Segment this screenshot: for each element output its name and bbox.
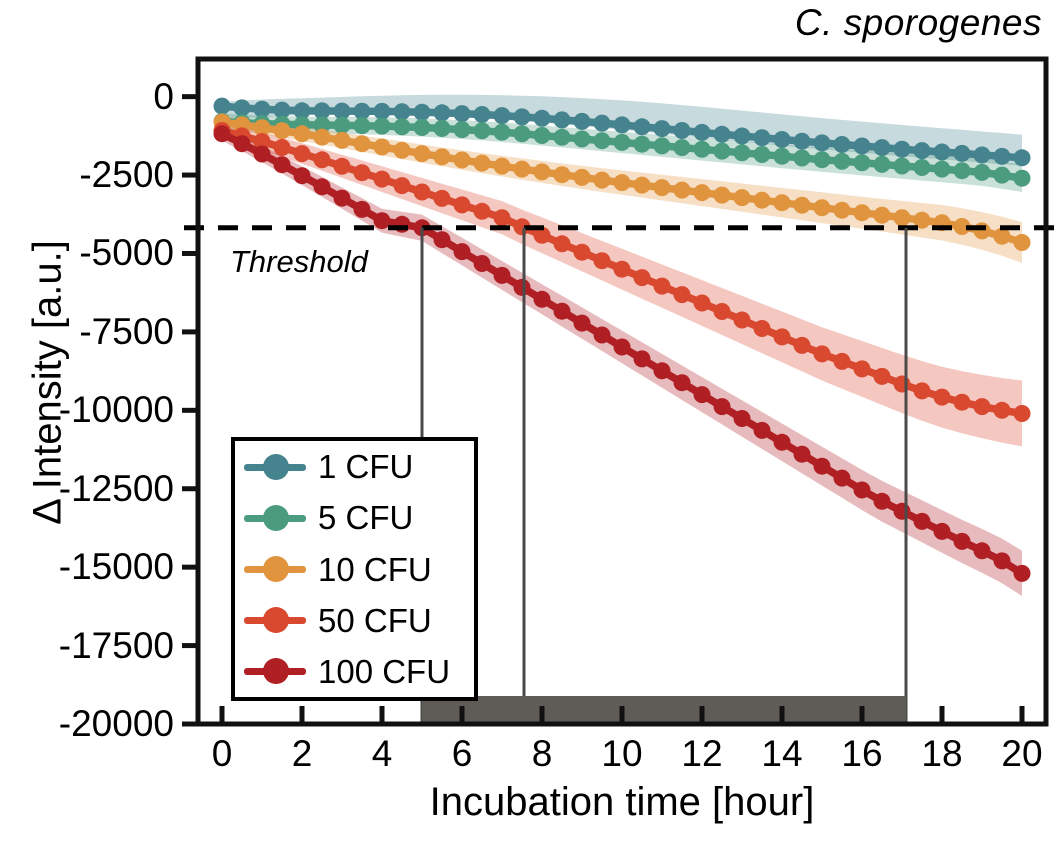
series-marker (674, 139, 691, 156)
series-marker (694, 124, 711, 141)
series-marker (994, 167, 1011, 184)
series-marker (554, 129, 571, 146)
series-marker (674, 122, 691, 139)
series-marker (354, 117, 371, 134)
threshold-label: Threshold (230, 244, 368, 280)
legend-key-icon (244, 658, 306, 684)
series-marker (654, 179, 671, 196)
legend-item[interactable]: 100 CFU (235, 646, 474, 697)
series-marker (494, 124, 511, 141)
series-marker (714, 398, 731, 415)
series-marker (394, 118, 411, 135)
series-marker (234, 99, 251, 116)
series-marker (634, 269, 651, 286)
series-marker (734, 410, 751, 427)
series-marker (994, 552, 1011, 569)
series-marker (394, 103, 411, 120)
series-marker (854, 482, 871, 499)
series-marker (774, 148, 791, 165)
series-marker (414, 104, 431, 121)
series-marker (1014, 234, 1031, 251)
series-marker (574, 113, 591, 130)
series-marker (934, 389, 951, 406)
series-marker (914, 382, 931, 399)
series-marker (834, 202, 851, 219)
series-marker (734, 128, 751, 145)
series-marker (834, 136, 851, 153)
series-marker (654, 120, 671, 137)
series-marker (934, 144, 951, 161)
series-marker (694, 386, 711, 403)
series-marker (694, 141, 711, 158)
series-marker (434, 190, 451, 207)
series-marker (254, 146, 271, 163)
series-marker (794, 197, 811, 214)
series-marker (334, 190, 351, 207)
series-marker (874, 207, 891, 224)
series-marker (234, 135, 251, 152)
series-marker (734, 312, 751, 329)
series-marker (894, 158, 911, 175)
series-marker (694, 295, 711, 312)
series-marker (434, 120, 451, 137)
series-marker (714, 303, 731, 320)
figure-canvas: C. sporogenes Δ Intensity [a.u.] Incubat… (0, 0, 1058, 844)
series-marker (314, 151, 331, 168)
series-marker (554, 303, 571, 320)
series-marker (554, 235, 571, 252)
series-marker (494, 107, 511, 124)
series-marker (474, 106, 491, 123)
series-marker (794, 446, 811, 463)
series-marker (594, 327, 611, 344)
series-marker (714, 126, 731, 143)
series-marker (494, 209, 511, 226)
series-marker (974, 542, 991, 559)
series-marker (514, 279, 531, 296)
series-marker (814, 345, 831, 362)
series-marker (474, 122, 491, 139)
series-marker (894, 209, 911, 226)
series-marker (634, 177, 651, 194)
series-marker (674, 286, 691, 303)
series-marker (1014, 149, 1031, 166)
series-marker (814, 458, 831, 475)
series-marker (454, 152, 471, 169)
series-marker (374, 139, 391, 156)
series-marker (434, 231, 451, 248)
series-marker (754, 146, 771, 163)
series-marker (834, 153, 851, 170)
series-marker (754, 129, 771, 146)
series-marker (534, 163, 551, 180)
series-marker (894, 503, 911, 520)
series-marker (414, 119, 431, 136)
series-marker (374, 212, 391, 229)
series-marker (514, 161, 531, 178)
series-marker (454, 243, 471, 260)
series-marker (274, 139, 291, 156)
legend-box[interactable]: 1 CFU 5 CFU 10 CFU 50 CFU 100 CFU (231, 437, 478, 701)
series-marker (274, 122, 291, 139)
series-marker (814, 151, 831, 168)
series-marker (874, 493, 891, 510)
legend-key-icon (244, 556, 306, 582)
series-marker (614, 116, 631, 133)
series-marker (934, 523, 951, 540)
series-marker (374, 171, 391, 188)
series-marker (754, 422, 771, 439)
series-marker (954, 162, 971, 179)
series-marker (314, 178, 331, 195)
series-marker (694, 184, 711, 201)
series-marker (414, 184, 431, 201)
series-marker (514, 125, 531, 142)
series-marker (874, 368, 891, 385)
series-marker (734, 144, 751, 161)
series-marker (294, 167, 311, 184)
plot-area (0, 0, 1058, 844)
series-marker (814, 134, 831, 151)
series-marker (774, 434, 791, 451)
series-marker (874, 139, 891, 156)
series-marker (554, 166, 571, 183)
legend-item-label: 10 CFU (318, 553, 432, 586)
series-marker (454, 121, 471, 138)
series-marker (334, 132, 351, 149)
series-marker (754, 192, 771, 209)
series-marker (614, 261, 631, 278)
series-marker (674, 374, 691, 391)
series-marker (994, 148, 1011, 165)
series-marker (834, 470, 851, 487)
series-marker (854, 204, 871, 221)
series-marker (354, 164, 371, 181)
series-marker (454, 105, 471, 122)
series-marker (854, 360, 871, 377)
series-marker (874, 156, 891, 173)
series-marker (554, 111, 571, 128)
series-marker (954, 394, 971, 411)
series-marker (794, 337, 811, 354)
series-marker (214, 125, 231, 142)
series-marker (834, 353, 851, 370)
series-marker (294, 145, 311, 162)
series-marker (714, 187, 731, 204)
series-marker (494, 158, 511, 175)
series-marker (294, 125, 311, 142)
series-marker (214, 98, 231, 115)
series-marker (654, 362, 671, 379)
series-marker (774, 131, 791, 148)
series-marker (414, 145, 431, 162)
series-marker (1014, 405, 1031, 422)
series-marker (894, 141, 911, 158)
series-marker (1014, 565, 1031, 582)
legend-item-label: 5 CFU (318, 501, 413, 534)
series-marker (914, 159, 931, 176)
series-marker (574, 244, 591, 261)
series-marker (374, 118, 391, 135)
series-marker (994, 402, 1011, 419)
series-marker (934, 161, 951, 178)
series-marker (774, 328, 791, 345)
legend-item-label: 1 CFU (318, 450, 413, 483)
series-marker (594, 252, 611, 269)
series-marker (754, 320, 771, 337)
series-marker (634, 118, 651, 135)
series-marker (634, 136, 651, 153)
series-marker (914, 142, 931, 159)
series-marker (914, 513, 931, 530)
legend-item-label: 100 CFU (318, 655, 450, 688)
legend-item[interactable]: 5 CFU (235, 492, 474, 543)
series-marker (314, 129, 331, 146)
legend-item-label: 50 CFU (318, 604, 432, 637)
series-marker (354, 103, 371, 120)
series-marker (614, 174, 631, 191)
series-marker (334, 117, 351, 134)
legend-item[interactable]: 10 CFU (235, 543, 474, 594)
series-marker (974, 398, 991, 415)
series-marker (894, 376, 911, 393)
series-marker (334, 158, 351, 175)
series-marker (434, 148, 451, 165)
series-marker (794, 133, 811, 150)
series-marker (534, 110, 551, 127)
series-marker (514, 108, 531, 125)
series-marker (574, 131, 591, 148)
incubation-time-bar (422, 696, 906, 724)
series-marker (274, 156, 291, 173)
series-marker (614, 134, 631, 151)
series-marker (534, 291, 551, 308)
series-marker (474, 255, 491, 272)
series-marker (434, 104, 451, 121)
series-marker (494, 267, 511, 284)
legend-key-icon (244, 505, 306, 531)
series-marker (1014, 170, 1031, 187)
series-marker (614, 339, 631, 356)
series-marker (854, 154, 871, 171)
series-marker (634, 350, 651, 367)
series-marker (594, 115, 611, 132)
series-marker (974, 147, 991, 164)
legend-key-icon (244, 454, 306, 480)
series-marker (974, 222, 991, 239)
series-marker (354, 135, 371, 152)
series-marker (654, 137, 671, 154)
series-marker (594, 132, 611, 149)
series-marker (794, 150, 811, 167)
series-marker (774, 194, 791, 211)
series-marker (814, 199, 831, 216)
series-marker (394, 177, 411, 194)
series-marker (714, 143, 731, 160)
series-marker (954, 533, 971, 550)
series-marker (954, 145, 971, 162)
series-marker (734, 189, 751, 206)
series-marker (674, 182, 691, 199)
legend-key-icon (244, 607, 306, 633)
series-marker (454, 196, 471, 213)
series-marker (474, 155, 491, 172)
series-marker (854, 138, 871, 155)
series-marker (394, 142, 411, 159)
legend-item[interactable]: 1 CFU (235, 441, 474, 492)
series-marker (594, 172, 611, 189)
legend-item[interactable]: 50 CFU (235, 595, 474, 646)
series-marker (474, 203, 491, 220)
series-marker (974, 164, 991, 181)
series-marker (354, 201, 371, 218)
series-marker (574, 169, 591, 186)
series-marker (574, 315, 591, 332)
series-marker (534, 127, 551, 144)
series-marker (374, 103, 391, 120)
series-marker (654, 278, 671, 295)
